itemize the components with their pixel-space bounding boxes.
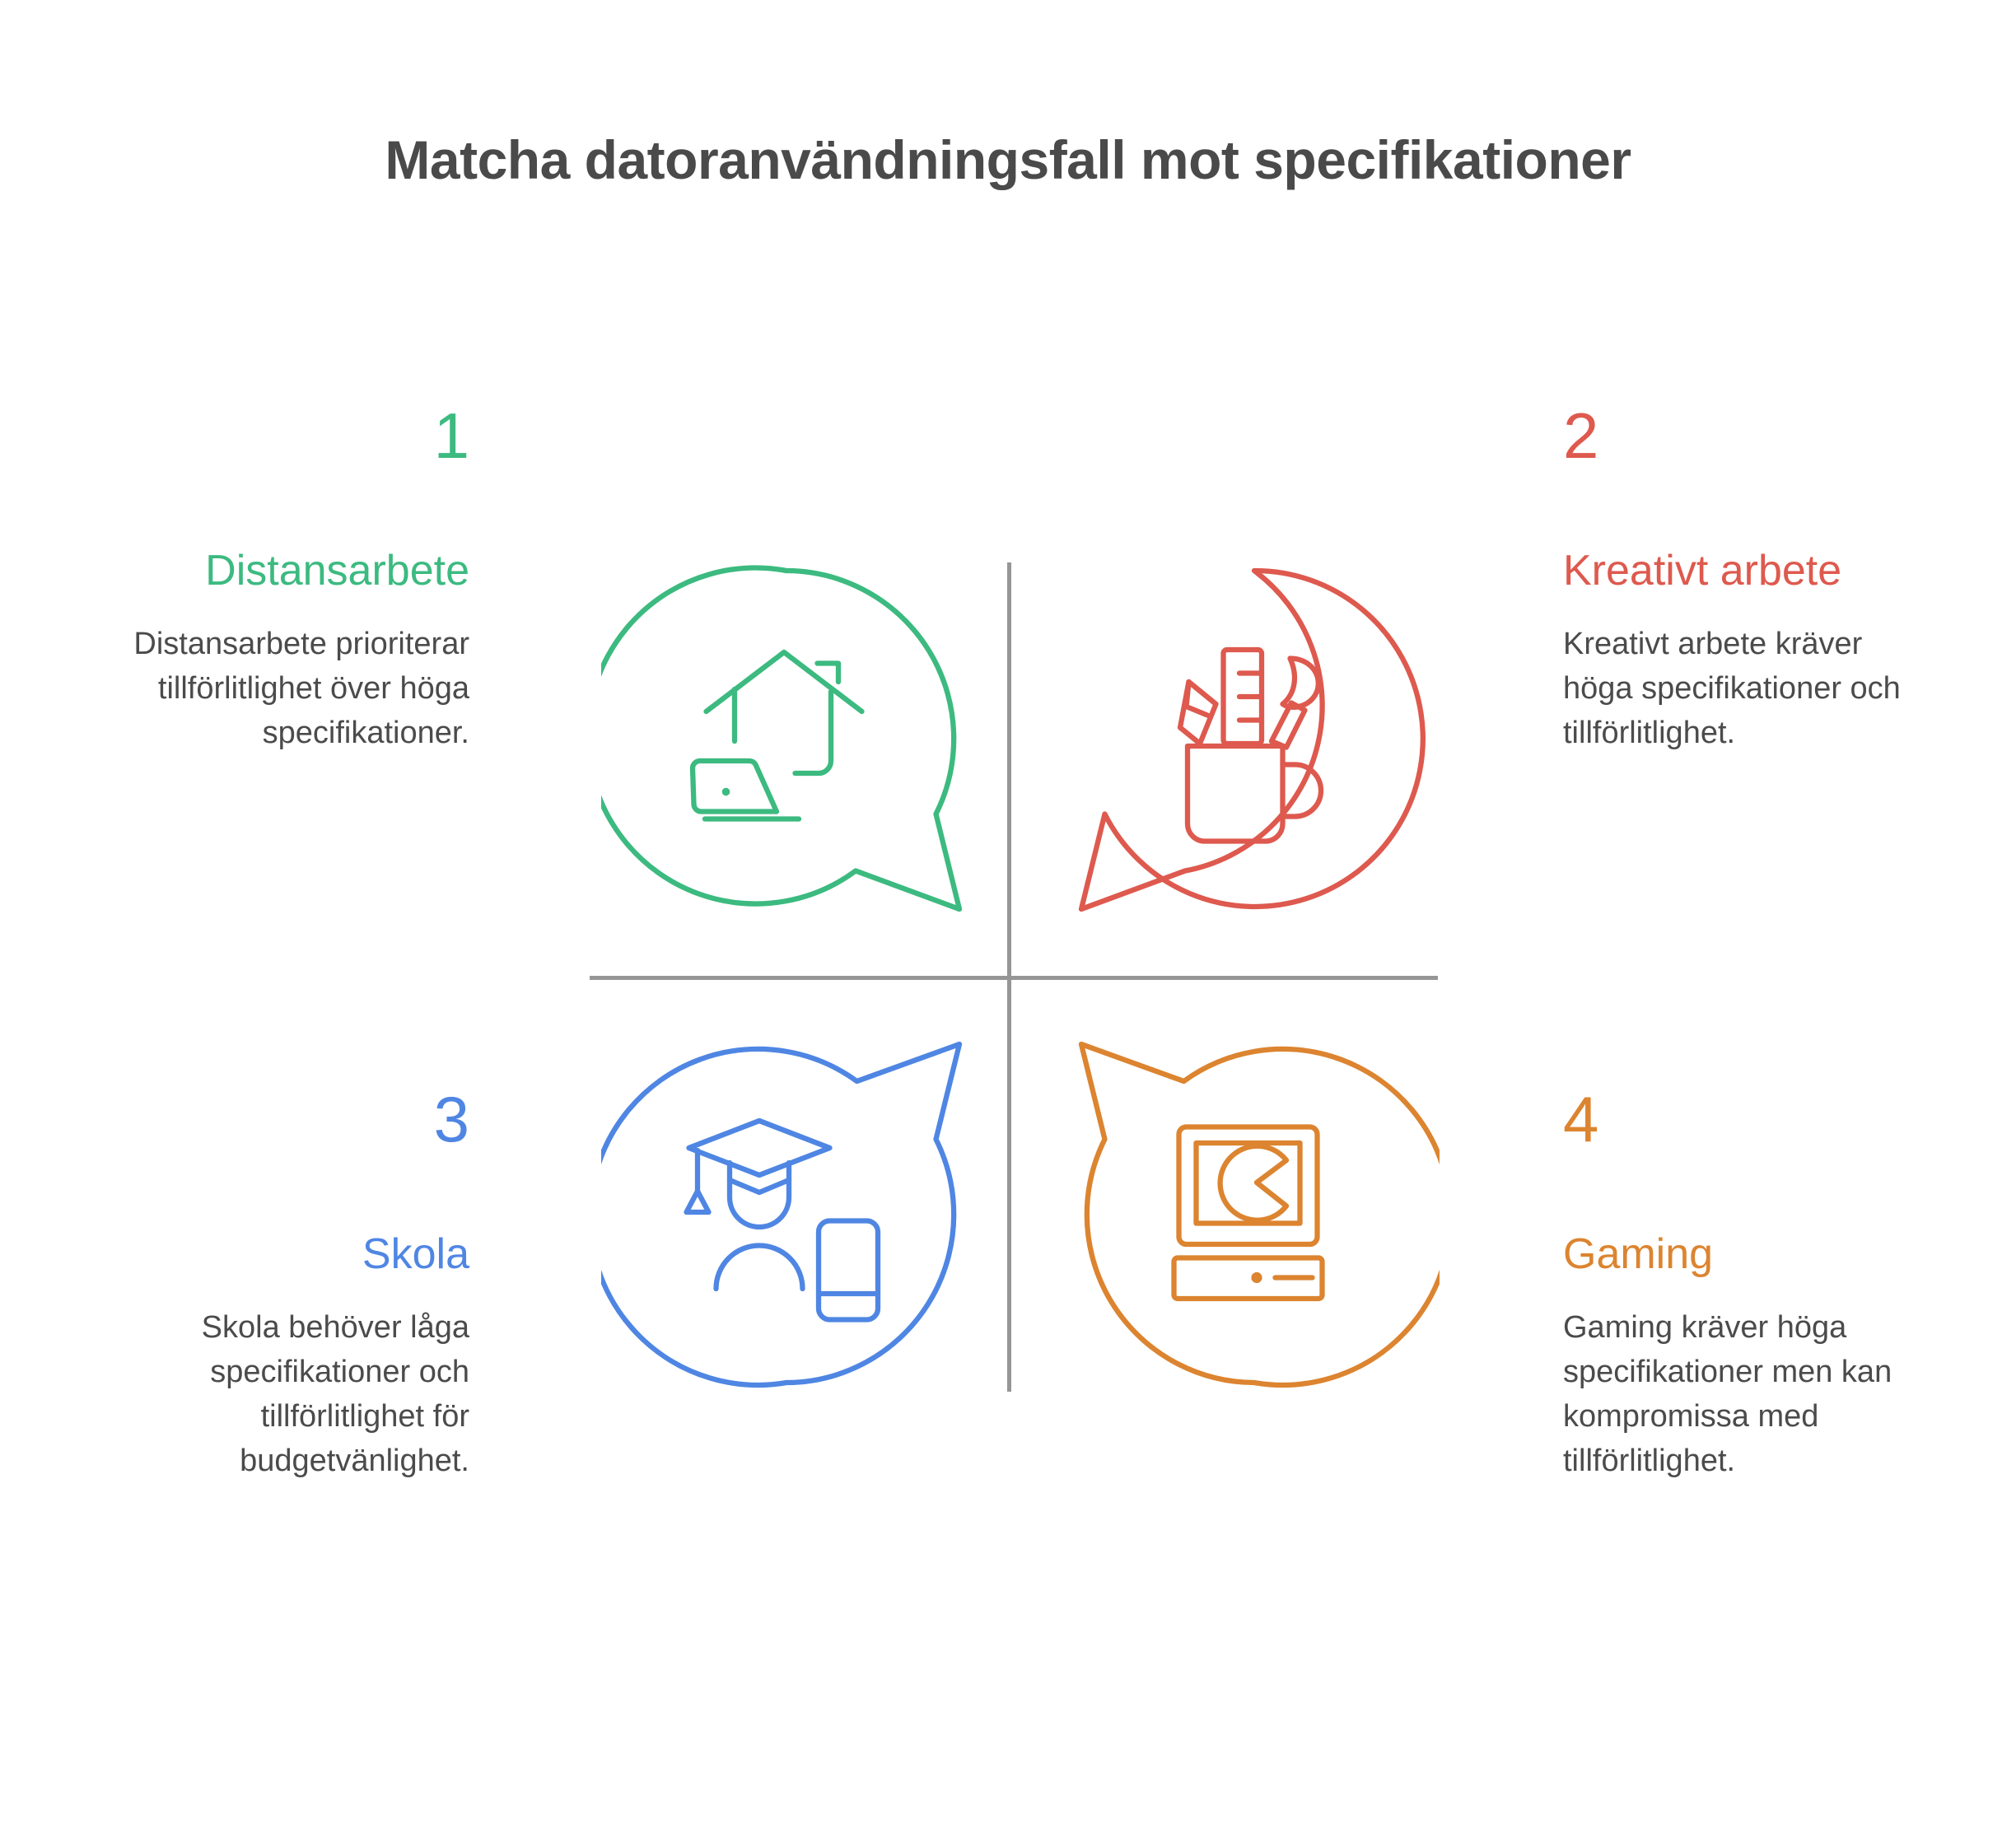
quadrant-4-number: 4: [1563, 1087, 1917, 1151]
graduate-student-mobile-icon: [601, 1029, 972, 1400]
speech-bubble-distansarbete[interactable]: [601, 553, 972, 924]
quadrant-1-heading: Distansarbete: [115, 547, 469, 595]
horizontal-divider: [590, 976, 1438, 980]
quadrant-2-number: 2: [1563, 404, 1917, 468]
quadrant-1-description: Distansarbete prioriterar tillförlitligh…: [115, 623, 469, 756]
quadrant-3-heading: Skola: [115, 1230, 469, 1278]
quadrant-2-description: Kreativt arbete kräver höga specifikatio…: [1563, 623, 1917, 756]
pencil-cup-art-supplies-icon: [1069, 553, 1440, 924]
quadrant-2-text-block: 2 Kreativt arbete Kreativt arbete kräver…: [1563, 404, 1917, 756]
speech-bubble-kreativt-arbete[interactable]: [1069, 553, 1440, 924]
quadrant-1-text-block: 1 Distansarbete Distansarbete prioritera…: [115, 404, 469, 756]
quadrant-4-heading: Gaming: [1563, 1230, 1917, 1278]
quadrant-4-description: Gaming kräver höga specifikationer men k…: [1563, 1306, 1917, 1484]
quadrant-3-description: Skola behöver låga specifikationer och t…: [115, 1306, 469, 1484]
quadrant-3-text-block: 3 Skola Skola behöver låga specifikation…: [115, 1087, 469, 1484]
quadrant-1-number: 1: [115, 404, 469, 468]
speech-bubble-gaming[interactable]: [1069, 1029, 1440, 1400]
retro-computer-pacman-icon: [1069, 1029, 1440, 1400]
quadrant-diagram: 1 Distansarbete Distansarbete prioritera…: [0, 0, 2016, 1838]
home-office-laptop-icon: [601, 553, 972, 924]
speech-bubble-skola[interactable]: [601, 1029, 972, 1400]
quadrant-4-text-block: 4 Gaming Gaming kräver höga specifikatio…: [1563, 1087, 1917, 1484]
quadrant-2-heading: Kreativt arbete: [1563, 547, 1917, 595]
quadrant-3-number: 3: [115, 1087, 469, 1151]
